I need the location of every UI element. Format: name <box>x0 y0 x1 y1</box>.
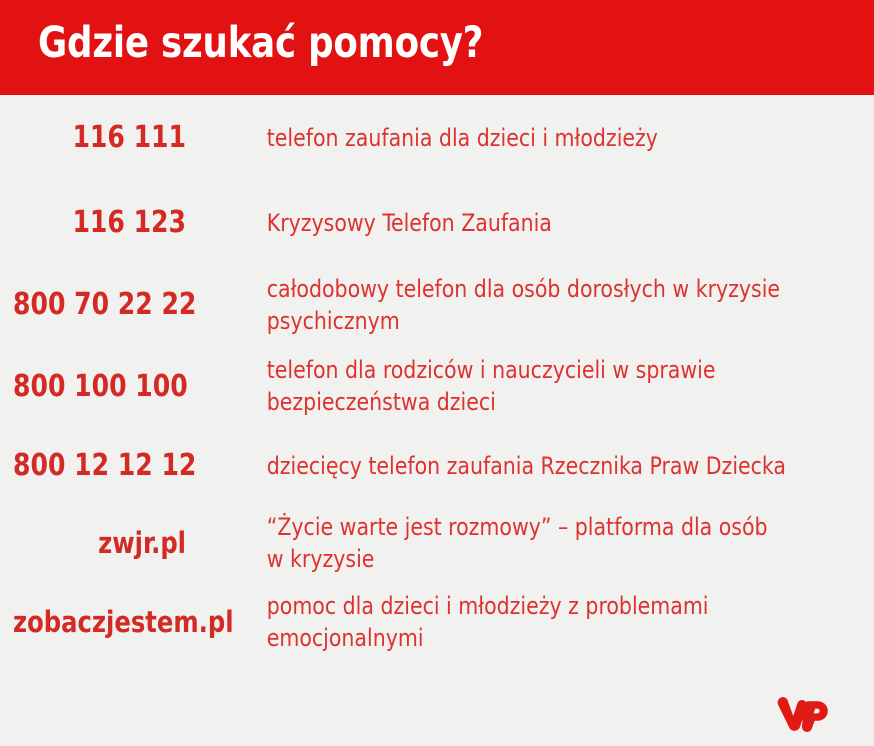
helpline-description: “Życie warte jest rozmowy” – platforma d… <box>186 511 832 575</box>
description-line: telefon dla rodziców i nauczycieli w spr… <box>267 354 832 386</box>
description-line: dziecięcy telefon zaufania Rzecznika Pra… <box>267 450 832 482</box>
list-item: zwjr.pl “Życie warte jest rozmowy” – pla… <box>0 504 874 582</box>
description-line: telefon zaufania dla dzieci i młodzieży <box>267 122 832 154</box>
helpline-description: dziecięcy telefon zaufania Rzecznika Pra… <box>186 450 832 482</box>
infographic-card: Gdzie szukać pomocy? 116 111 telefon zau… <box>0 0 874 746</box>
helpline-number[interactable]: 116 123 <box>13 206 186 240</box>
helpline-description: telefon zaufania dla dzieci i młodzieży <box>186 122 832 154</box>
page-title: Gdzie szukać pomocy? <box>38 12 483 74</box>
list-item: 800 70 22 22 całodobowy telefon dla osób… <box>0 265 874 345</box>
helpline-description: pomoc dla dzieci i młodzieży z problemam… <box>186 590 832 654</box>
description-line: psychicznym <box>267 305 832 337</box>
wp-logo-icon <box>776 695 830 735</box>
header-banner: Gdzie szukać pomocy? <box>0 0 874 95</box>
helpline-description: Kryzysowy Telefon Zaufania <box>186 207 832 239</box>
list-item: 800 100 100 telefon dla rodziców i naucz… <box>0 345 874 427</box>
list-item: zobaczjestem.pl pomoc dla dzieci i młodz… <box>0 583 874 661</box>
helpline-website[interactable]: zwjr.pl <box>13 527 186 559</box>
helpline-description: telefon dla rodziców i nauczycieli w spr… <box>186 354 832 418</box>
helpline-number[interactable]: 800 12 12 12 <box>13 449 186 483</box>
helpline-list: 116 111 telefon zaufania dla dzieci i mł… <box>0 95 874 661</box>
list-item: 800 12 12 12 dziecięcy telefon zaufania … <box>0 428 874 505</box>
description-line: bezpieczeństwa dzieci <box>267 386 832 418</box>
helpline-number[interactable]: 116 111 <box>13 121 186 155</box>
description-line: pomoc dla dzieci i młodzieży z problemam… <box>267 590 832 622</box>
description-line: emocjonalnymi <box>267 622 832 654</box>
list-item: 116 123 Kryzysowy Telefon Zaufania <box>0 181 874 264</box>
helpline-number[interactable]: 800 70 22 22 <box>13 288 186 322</box>
description-line: Kryzysowy Telefon Zaufania <box>267 207 832 239</box>
description-line: “Życie warte jest rozmowy” – platforma d… <box>267 511 832 543</box>
helpline-description: całodobowy telefon dla osób dorosłych w … <box>186 273 832 337</box>
list-item: 116 111 telefon zaufania dla dzieci i mł… <box>0 95 874 181</box>
description-line: w kryzysie <box>267 543 832 575</box>
helpline-website[interactable]: zobaczjestem.pl <box>13 606 186 638</box>
helpline-number[interactable]: 800 100 100 <box>13 370 186 404</box>
description-line: całodobowy telefon dla osób dorosłych w … <box>267 273 832 305</box>
